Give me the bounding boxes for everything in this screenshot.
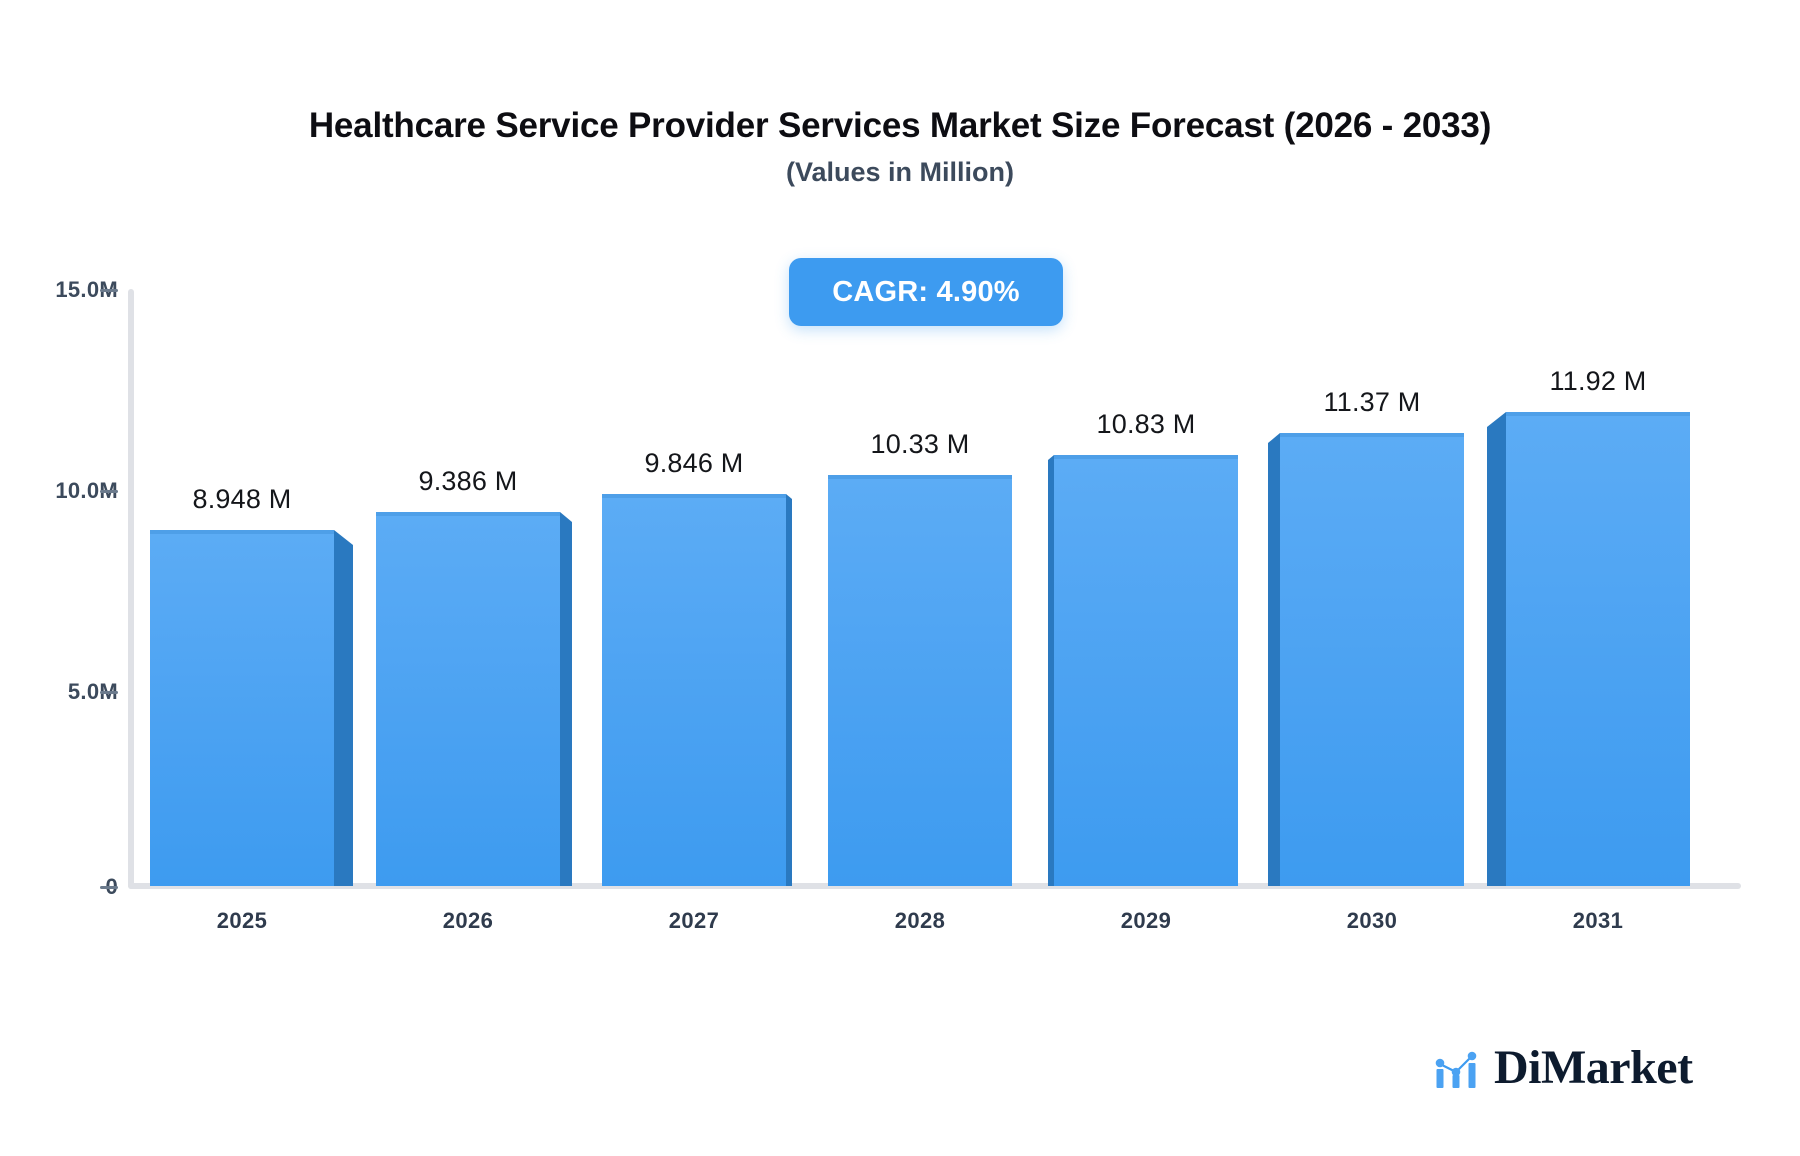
- bar-value-label: 8.948 M: [110, 484, 374, 515]
- bar-value-label: 11.92 M: [1466, 366, 1730, 397]
- bar-side-face: [560, 512, 572, 886]
- brand-logo-text: DiMarket: [1494, 1044, 1693, 1092]
- x-axis-tick-label-2031: 2031: [1476, 908, 1720, 934]
- bar-front-face: [1054, 455, 1238, 886]
- bar-2031[interactable]: [1487, 0, 1690, 1156]
- bar-top-edge: [1280, 433, 1464, 437]
- bar-front-face: [828, 475, 1012, 886]
- bar-value-label: 11.37 M: [1240, 387, 1504, 418]
- y-axis-tick-mark: [100, 691, 118, 694]
- y-axis-tick-mark: [100, 886, 118, 889]
- bar-value-label: 10.83 M: [1014, 409, 1278, 440]
- bar-top-edge: [376, 512, 560, 516]
- bar-side-face: [1487, 412, 1506, 886]
- x-axis-tick-label-2026: 2026: [346, 908, 590, 934]
- bar-top-edge: [602, 494, 786, 498]
- x-axis-tick-label-2028: 2028: [798, 908, 1042, 934]
- bar-front-face: [602, 494, 786, 886]
- y-axis-tick-mark: [100, 289, 118, 292]
- brand-logo: DiMarket: [1432, 1044, 1693, 1092]
- bar-front-face: [376, 512, 560, 886]
- bar-value-label: 9.846 M: [562, 448, 826, 479]
- plot-area: 15.0M 10.0M 5.0M 0 8.948 M9.386 M9.846 M…: [0, 0, 1800, 1156]
- x-axis-tick-label-2027: 2027: [572, 908, 816, 934]
- bar-side-face: [1268, 433, 1280, 886]
- bar-value-label: 9.386 M: [336, 466, 600, 497]
- bar-front-face: [1280, 433, 1464, 886]
- bar-front-face: [150, 530, 334, 886]
- bar-2027[interactable]: [602, 0, 792, 1156]
- bar-value-label: 10.33 M: [788, 429, 1052, 460]
- bar-2026[interactable]: [376, 0, 572, 1156]
- bar-top-edge: [828, 475, 1012, 479]
- bar-top-edge: [1506, 412, 1690, 416]
- bar-top-edge: [150, 530, 334, 534]
- bar-2028[interactable]: [828, 0, 1012, 1156]
- bar-top-edge: [1054, 455, 1238, 459]
- y-axis-line: [128, 289, 134, 889]
- bar-chart-logo-icon: [1432, 1044, 1480, 1092]
- bar-2025[interactable]: [150, 0, 353, 1156]
- x-axis-tick-label-2025: 2025: [120, 908, 364, 934]
- bar-side-face: [786, 494, 792, 886]
- bar-front-face: [1506, 412, 1690, 886]
- chart-container: Healthcare Service Provider Services Mar…: [0, 0, 1800, 1156]
- bar-2029[interactable]: [1048, 0, 1238, 1156]
- x-axis-tick-label-2029: 2029: [1024, 908, 1268, 934]
- x-axis-tick-label-2030: 2030: [1250, 908, 1494, 934]
- bar-side-face: [334, 530, 353, 886]
- bar-2030[interactable]: [1268, 0, 1464, 1156]
